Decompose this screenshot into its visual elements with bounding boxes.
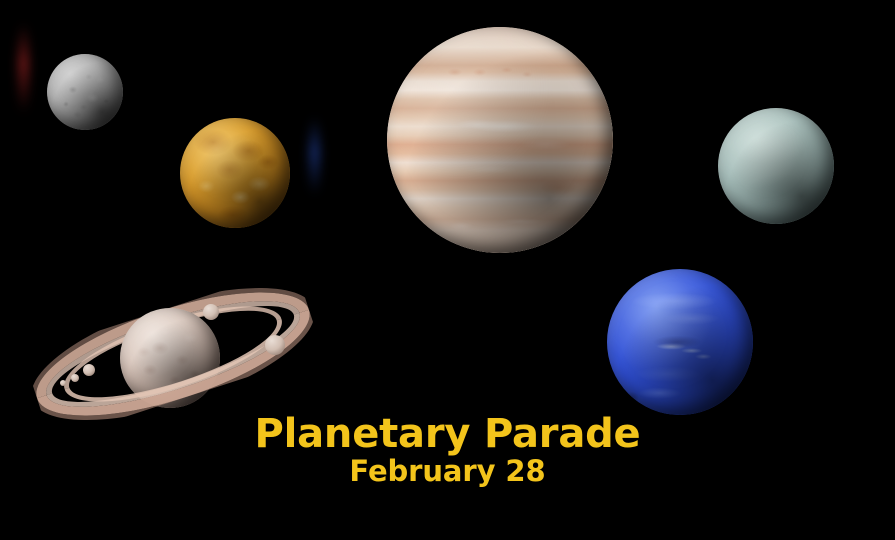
moon-right (265, 335, 285, 355)
page-title: Planetary Parade (0, 414, 895, 454)
planet-jupiter (387, 27, 613, 253)
mercury-crater-texture (47, 54, 123, 130)
planet-neptune (607, 269, 753, 415)
moon-small-2 (71, 374, 79, 382)
blue-light-streak (309, 116, 320, 196)
planet-venus (180, 118, 290, 228)
page-subtitle: February 28 (0, 457, 895, 486)
moon-small-3 (83, 364, 95, 376)
planet-uranus (718, 108, 834, 224)
moon-small-1 (60, 380, 66, 386)
planet-saturn-group (36, 288, 310, 420)
red-light-streak (18, 22, 29, 114)
neptune-cloud-streaks (607, 269, 753, 415)
planetary-parade-poster: Planetary Parade February 28 (0, 0, 895, 540)
uranus-atmosphere-texture (718, 108, 834, 224)
venus-cloud-texture (180, 118, 290, 228)
moon-upper (203, 304, 219, 320)
title-block: Planetary Parade February 28 (0, 414, 895, 486)
jupiter-storm-swirls (387, 27, 613, 253)
planet-mercury (47, 54, 123, 130)
